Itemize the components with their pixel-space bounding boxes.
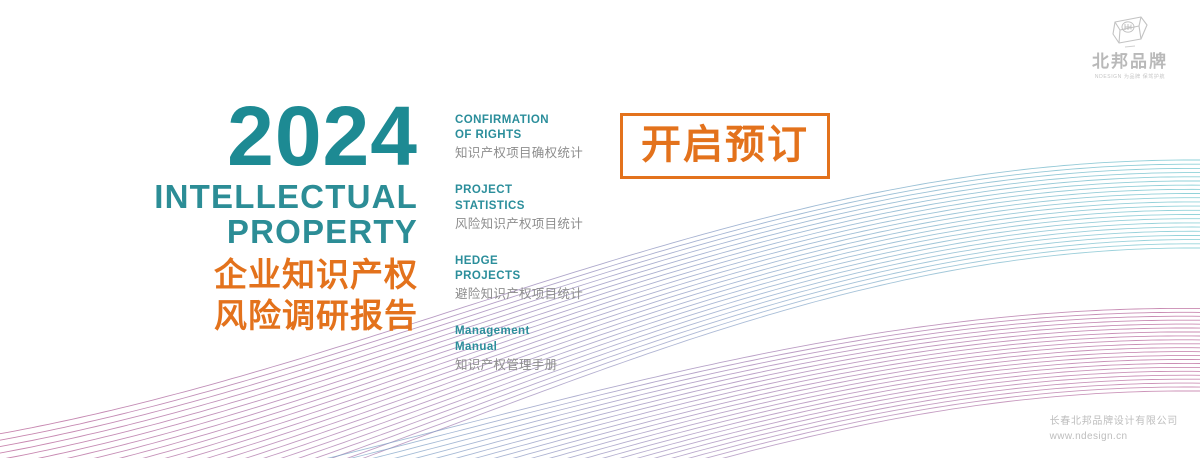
list-item: HEDGE PROJECTS 避险知识产权项目统计: [455, 254, 605, 303]
brand-logo-subtitle: NDESIGN 为品牌 保驾护航: [1082, 74, 1178, 80]
brand-logo: 北邦品牌 NDESIGN 为品牌 保驾护航: [1082, 12, 1178, 80]
list-item: PROJECT STATISTICS 风险知识产权项目统计: [455, 183, 605, 232]
feature-english-label: PROJECT STATISTICS: [455, 183, 605, 213]
list-item: CONFIRMATION OF RIGHTS 知识产权项目确权统计: [455, 113, 605, 162]
feature-list: CONFIRMATION OF RIGHTS 知识产权项目确权统计 PROJEC…: [455, 113, 605, 374]
poster-canvas: 2024 INTELLECTUAL PROPERTY 企业知识产权 风险调研报告…: [0, 0, 1200, 458]
list-item: Management Manual 知识产权管理手册: [455, 324, 605, 373]
title-chinese-line-2: 风险调研报告: [150, 296, 418, 337]
footer-website-url: www.ndesign.cn: [1050, 430, 1178, 445]
feature-english-label: CONFIRMATION OF RIGHTS: [455, 113, 605, 143]
footer: 长春北邦品牌设计有限公司 www.ndesign.cn: [1050, 415, 1178, 444]
feature-english-label: Management Manual: [455, 324, 605, 354]
title-english-line-2: PROPERTY: [150, 215, 418, 250]
feature-chinese-label: 知识产权管理手册: [455, 356, 605, 374]
brand-logo-name: 北邦品牌: [1082, 53, 1178, 72]
title-chinese-line-1: 企业知识产权: [150, 255, 418, 296]
feature-chinese-label: 风险知识产权项目统计: [455, 215, 605, 233]
flag-monogram-icon: [1108, 12, 1152, 52]
feature-english-label: HEDGE PROJECTS: [455, 254, 605, 284]
title-english-line-1: INTELLECTUAL: [150, 180, 418, 215]
page-title-year: 2024: [150, 100, 418, 174]
preorder-cta-button[interactable]: 开启预订: [620, 113, 830, 179]
feature-chinese-label: 知识产权项目确权统计: [455, 144, 605, 162]
footer-company-name: 长春北邦品牌设计有限公司: [1050, 415, 1178, 430]
feature-chinese-label: 避险知识产权项目统计: [455, 285, 605, 303]
title-block: 2024 INTELLECTUAL PROPERTY 企业知识产权 风险调研报告: [150, 100, 418, 337]
preorder-cta-label: 开启预订: [641, 123, 809, 167]
